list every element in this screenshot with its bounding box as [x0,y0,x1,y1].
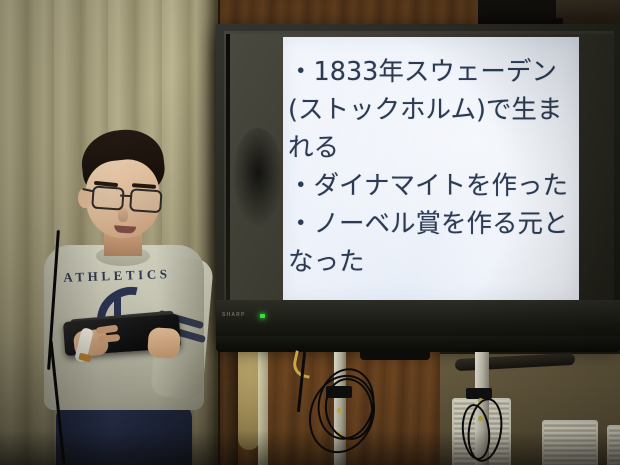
presentation-slide[interactable]: ・1833年スウェーデン (ストックホルム)で生ま れる ・ダイナマイトを作った… [283,37,579,301]
trousers-shading [56,402,192,465]
ceiling-strip [556,0,620,18]
presentation-scene-photo: ・1833年スウェーデン (ストックホルム)で生ま れる ・ダイナマイトを作った… [0,0,620,465]
glasses-lens-left [91,186,125,211]
power-led-indicator [260,314,265,318]
display-left-bezel-line [226,34,230,316]
display-bezel-foot [360,350,430,360]
door-plate [238,340,260,450]
presenter-reflection-shadow [232,128,284,228]
right-hand [147,327,181,359]
nose [118,208,128,222]
slide-text: ・1833年スウェーデン (ストックホルム)で生ま れる ・ダイナマイトを作った… [288,53,576,281]
louvered-vent-far-right [607,425,620,465]
glasses-icon [91,186,164,211]
glasses-lens-right [129,188,163,213]
display-brand-logo: SHARP [222,312,246,318]
louvered-vent-right [542,420,598,465]
